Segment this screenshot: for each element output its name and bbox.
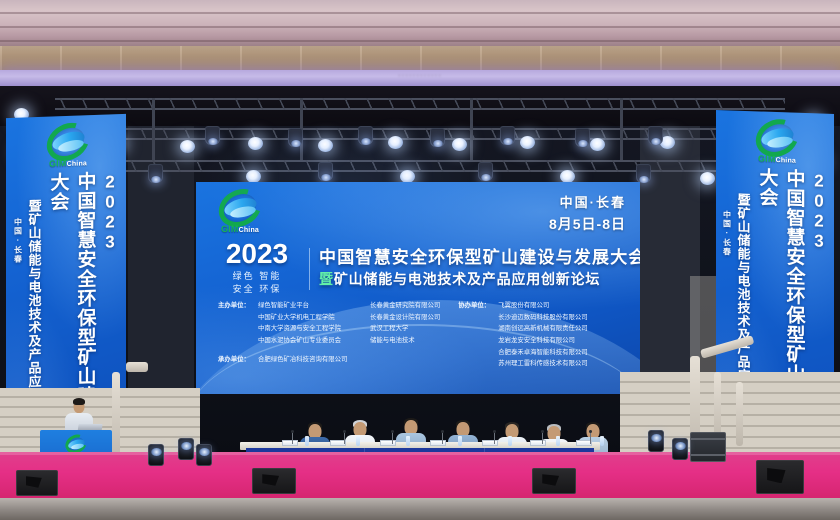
cohost-item: 苏州理工雷科传感技术有限公司 bbox=[498, 358, 587, 370]
name-card bbox=[482, 440, 498, 446]
moving-head-light bbox=[288, 128, 303, 147]
cohost-item: 龙岩龙安安全科技有限公司 bbox=[498, 335, 575, 347]
microphone bbox=[344, 432, 345, 444]
balustrade-left-rail bbox=[126, 362, 148, 372]
moving-head-light bbox=[358, 126, 373, 145]
host-item: 中国矿业大学机电工程学院 bbox=[258, 312, 362, 324]
microphone bbox=[494, 432, 495, 444]
cohost-label: 协办单位： bbox=[458, 300, 490, 312]
floor-moving-head-light bbox=[178, 438, 194, 460]
event-subtitle: 暨矿山储能与电池技术及产品应用创新论坛 bbox=[319, 271, 640, 289]
host-item: 储能与电池技术 bbox=[370, 335, 415, 347]
gim-china-logo-main-screen: GIMChina bbox=[214, 190, 266, 240]
lighting-truss-upper bbox=[55, 98, 785, 110]
stage-monitor-speaker bbox=[252, 468, 296, 494]
name-card bbox=[530, 440, 546, 446]
logo-wordmark: GIMChina bbox=[42, 157, 94, 169]
ceiling-cornice bbox=[0, 46, 840, 70]
ceiling-led-strip: ············ bbox=[0, 70, 840, 86]
host-item: 武汉工程大学 bbox=[370, 323, 408, 335]
moving-head-light bbox=[575, 128, 590, 147]
stage-monitor-speaker bbox=[756, 460, 804, 494]
sponsor-hosts-column: 主办单位：绿色智能矿业平台长春黄金研究院有限公司 主办单位：中国矿业大学机电工程… bbox=[218, 300, 440, 370]
sponsor-cohosts-column: 协办单位：飞翼股份有限公司 协办单位：长沙迪迈数码科技股份有限公司 协办单位：湖… bbox=[458, 300, 587, 370]
moving-head-light bbox=[318, 162, 333, 181]
moving-head-light bbox=[430, 128, 445, 147]
host-item: 绿色智能矿业平台 bbox=[258, 300, 362, 312]
name-card bbox=[430, 440, 446, 446]
microphone bbox=[590, 432, 591, 444]
ceiling-banner-text: ············ bbox=[0, 71, 840, 80]
stage-monitor-speaker bbox=[532, 468, 576, 494]
microphone bbox=[442, 432, 443, 444]
event-date: 8月5日-8日 bbox=[549, 214, 626, 234]
stage-monitor-speaker bbox=[16, 470, 58, 496]
floor-moving-head-light bbox=[196, 444, 212, 466]
par-light bbox=[180, 140, 195, 153]
host-item: 中南大学资源与安全工程学院 bbox=[258, 323, 362, 335]
moving-head-light bbox=[648, 126, 663, 145]
gim-china-logo-left-banner: GIMChina bbox=[42, 123, 90, 169]
event-city: 中国·长春 bbox=[549, 192, 626, 211]
water-bottle bbox=[305, 436, 309, 446]
water-bottle bbox=[406, 436, 410, 446]
par-light bbox=[520, 136, 535, 149]
water-bottle bbox=[508, 436, 512, 446]
name-card bbox=[380, 440, 396, 446]
moving-head-light bbox=[148, 164, 163, 183]
sponsor-block: 主办单位：绿色智能矿业平台长春黄金研究院有限公司 主办单位：中国矿业大学机电工程… bbox=[218, 300, 638, 370]
water-bottle bbox=[458, 436, 462, 446]
floor-moving-head-light bbox=[148, 444, 164, 466]
cohost-item: 湖南创远高新机械有限责任公司 bbox=[498, 323, 587, 335]
event-year: 2023 bbox=[214, 240, 300, 268]
host-label: 主办单位： bbox=[218, 300, 250, 312]
host-item: 长春黄金研究院有限公司 bbox=[370, 300, 440, 312]
logo-wordmark: GIMChina bbox=[214, 224, 266, 234]
logo-wordmark: GIMChina bbox=[751, 153, 803, 165]
lighting-truss-lower bbox=[60, 160, 780, 172]
baluster-post bbox=[736, 382, 743, 446]
host-item: 长春黄金设计院有限公司 bbox=[370, 312, 440, 324]
par-light bbox=[388, 136, 403, 149]
subtitle-prefix-char: 暨 bbox=[319, 272, 334, 288]
moving-head-light bbox=[205, 126, 220, 145]
name-card bbox=[282, 440, 298, 446]
par-light bbox=[700, 172, 715, 185]
truss-post bbox=[152, 98, 155, 160]
moving-head-light bbox=[636, 164, 651, 183]
equipment-road-case bbox=[690, 432, 726, 462]
water-bottle bbox=[556, 436, 560, 446]
floor-moving-head-light bbox=[672, 438, 688, 460]
cohost-item: 合肥泰禾卓海智能科技有限公司 bbox=[498, 347, 587, 359]
water-bottle bbox=[600, 436, 604, 446]
microphone bbox=[542, 432, 543, 444]
stage-photo-scene: ············ bbox=[0, 0, 840, 520]
moving-head-light bbox=[478, 162, 493, 181]
balustrade-left bbox=[112, 372, 120, 464]
event-title: 中国智慧安全环保型矿山建设与发展大会 bbox=[319, 248, 640, 268]
gim-china-logo-right-banner: GIMChina bbox=[751, 119, 799, 165]
par-light bbox=[452, 138, 467, 151]
truss-post bbox=[470, 98, 473, 160]
par-light bbox=[318, 139, 333, 152]
ceiling bbox=[0, 0, 840, 46]
cohost-item: 长沙迪迈数码科技股份有限公司 bbox=[498, 312, 587, 324]
event-title-block: 2023 绿色 智能 安全 环保 中国智慧安全环保型矿山建设与发展大会 暨矿山储… bbox=[214, 240, 624, 297]
truss-post bbox=[620, 98, 623, 160]
moving-head-light bbox=[500, 126, 515, 145]
host-item: 中国水泥协会矿山专业委员会 bbox=[258, 335, 362, 347]
event-slogan: 绿色 智能 安全 环保 bbox=[214, 271, 300, 297]
par-light bbox=[248, 137, 263, 150]
title-divider bbox=[309, 248, 310, 290]
organizer-label: 承办单位： bbox=[218, 354, 250, 366]
organizer-item: 合肥绿色矿冶科技咨询有限公司 bbox=[258, 354, 347, 366]
event-location-block: 中国·长春 8月5日-8日 bbox=[549, 192, 626, 234]
floor-moving-head-light bbox=[648, 430, 664, 452]
water-bottle bbox=[356, 436, 360, 446]
par-light bbox=[590, 138, 605, 151]
cohost-item: 飞翼股份有限公司 bbox=[498, 300, 549, 312]
front-floor bbox=[0, 498, 840, 520]
microphone bbox=[392, 432, 393, 444]
microphone bbox=[292, 432, 293, 444]
main-led-screen: GIMChina 中国·长春 8月5日-8日 2023 绿色 智能 安全 环保 … bbox=[196, 182, 640, 394]
